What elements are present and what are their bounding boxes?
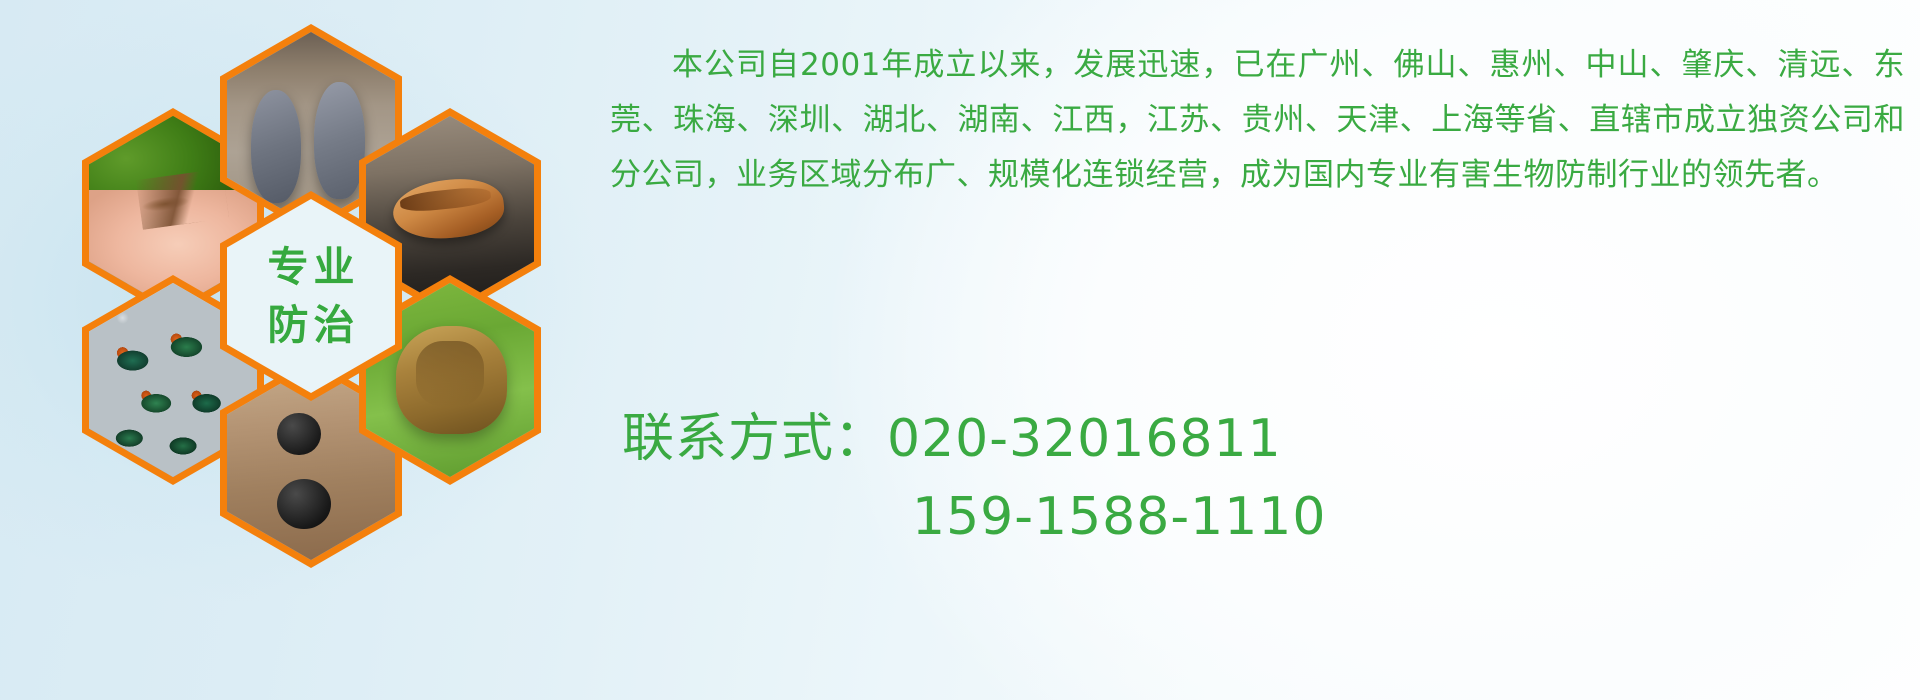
banner-background: 专业 防治 本公司自2001年成立以来，发展迅速，已在广州、佛山、惠州、中山、肇… [0, 0, 1920, 700]
contact-line-landline[interactable]: 联系方式：020-32016811 [622, 400, 1912, 478]
center-slogan: 专业 防治 [263, 238, 360, 354]
center-slogan-line1: 专业 [263, 238, 360, 296]
honeycomb-gallery: 专业 防治 [82, 8, 602, 568]
company-intro: 本公司自2001年成立以来，发展迅速，已在广州、佛山、惠州、中山、肇庆、清远、东… [610, 38, 1905, 203]
company-intro-paragraph: 本公司自2001年成立以来，发展迅速，已在广州、佛山、惠州、中山、肇庆、清远、东… [610, 38, 1905, 203]
center-slogan-line2: 防治 [263, 296, 360, 354]
hex-center-inner: 专业 防治 [227, 199, 395, 393]
contact-line-mobile[interactable]: 159-1588-1110 [622, 478, 1912, 556]
contact-block: 联系方式：020-32016811 159-1588-1110 [622, 400, 1912, 556]
